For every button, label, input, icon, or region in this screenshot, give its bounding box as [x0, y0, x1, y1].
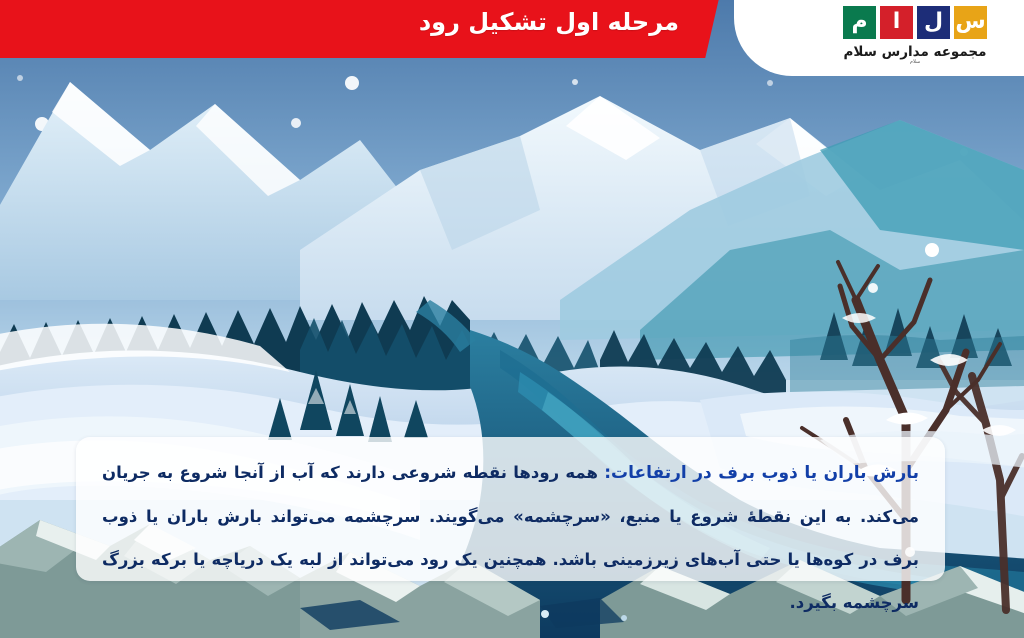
caption-text: همه رودها نقطه شروعی دارند که آب از آنجا…: [102, 463, 919, 612]
logo-tile-lam: ل: [917, 6, 950, 39]
logo-tiles: س ل ا م: [843, 6, 987, 39]
caption-lead: بارش باران یا ذوب برف در ارتفاعات:: [604, 463, 919, 483]
slide-root: مرحله اول تشکیل رود س ل ا م مجموعه مدارس…: [0, 0, 1024, 638]
caption-paragraph: بارش باران یا ذوب برف در ارتفاعات: همه ر…: [102, 451, 919, 624]
logo-subtitle: مجموعه مدارس سلام: [844, 44, 987, 60]
caption-card: بارش باران یا ذوب برف در ارتفاعات: همه ر…: [76, 437, 945, 581]
logo-subtitle-small: سلام: [910, 59, 920, 65]
page-title: مرحله اول تشکیل رود: [419, 8, 679, 36]
brand-logo[interactable]: س ل ا م مجموعه مدارس سلام سلام: [820, 6, 1010, 65]
logo-tile-meem: م: [843, 6, 876, 39]
logo-tile-seen: س: [954, 6, 987, 39]
logo-tile-alef: ا: [880, 6, 913, 39]
